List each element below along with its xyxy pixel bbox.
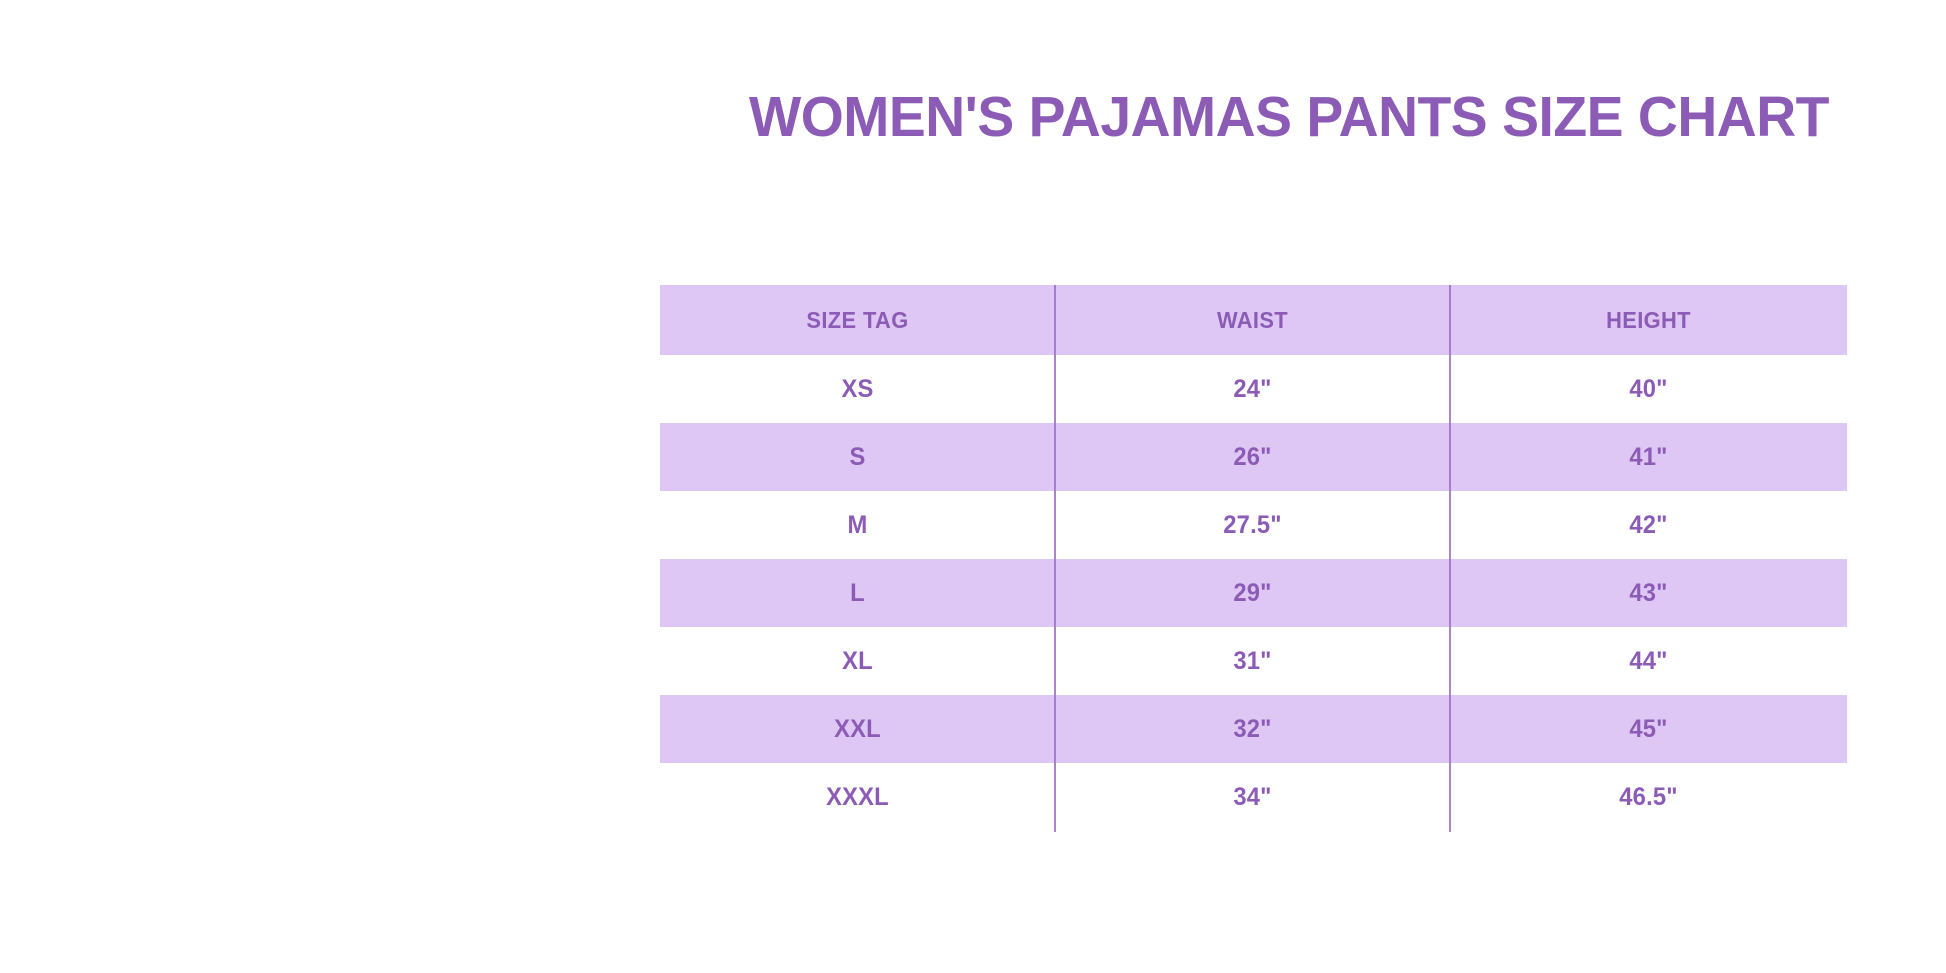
table-header-row: SIZE TAG WAIST HEIGHT [660, 285, 1847, 355]
column-header-waist: WAIST [1065, 285, 1440, 355]
size-table: SIZE TAG WAIST HEIGHT XS 24" 40" S 26" 4… [660, 285, 1847, 831]
table-row: XXL 32" 45" [660, 695, 1847, 763]
cell-height: 45" [1460, 695, 1837, 763]
size-chart-root: WOMEN'S PAJAMAS PANTS SIZE CHART SIZE TA… [0, 0, 1946, 973]
column-header-height: HEIGHT [1460, 285, 1837, 355]
column-header-size-tag: SIZE TAG [670, 285, 1045, 355]
cell-height: 46.5" [1460, 763, 1837, 831]
cell-waist: 34" [1065, 763, 1440, 831]
cell-waist: 24" [1065, 355, 1440, 423]
column-divider-2 [1449, 285, 1451, 832]
cell-size-tag: XXXL [670, 763, 1045, 831]
cell-waist: 32" [1065, 695, 1440, 763]
cell-height: 44" [1460, 627, 1837, 695]
table-row: XXXL 34" 46.5" [660, 763, 1847, 831]
cell-height: 43" [1460, 559, 1837, 627]
cell-size-tag: XS [670, 355, 1045, 423]
table-row: L 29" 43" [660, 559, 1847, 627]
cell-height: 40" [1460, 355, 1837, 423]
cell-waist: 27.5" [1065, 491, 1440, 559]
table-row: M 27.5" 42" [660, 491, 1847, 559]
cell-size-tag: L [670, 559, 1045, 627]
cell-size-tag: M [670, 491, 1045, 559]
table-row: XL 31" 44" [660, 627, 1847, 695]
cell-waist: 26" [1065, 423, 1440, 491]
cell-height: 42" [1460, 491, 1837, 559]
column-divider-1 [1054, 285, 1056, 832]
page-title: WOMEN'S PAJAMAS PANTS SIZE CHART [679, 88, 1899, 148]
cell-waist: 31" [1065, 627, 1440, 695]
cell-height: 41" [1460, 423, 1837, 491]
table-row: XS 24" 40" [660, 355, 1847, 423]
cell-waist: 29" [1065, 559, 1440, 627]
cell-size-tag: XL [670, 627, 1045, 695]
table-row: S 26" 41" [660, 423, 1847, 491]
cell-size-tag: S [670, 423, 1045, 491]
cell-size-tag: XXL [670, 695, 1045, 763]
